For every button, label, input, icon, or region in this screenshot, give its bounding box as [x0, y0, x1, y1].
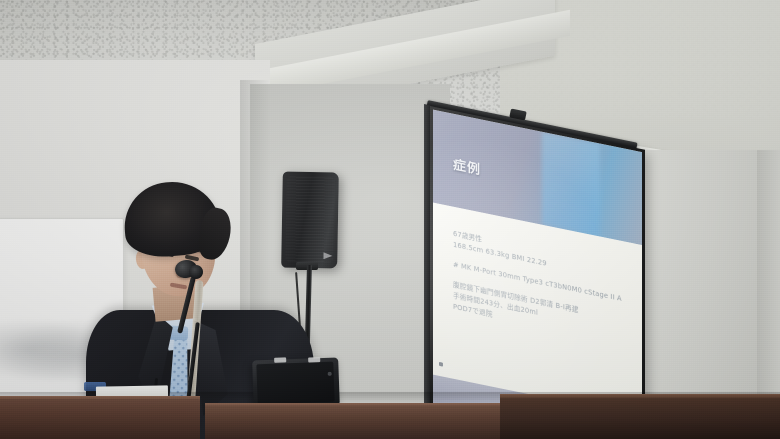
microphone-capsule: [189, 265, 203, 279]
podium-far-panel: [500, 398, 780, 439]
tablet-device: [252, 358, 340, 409]
slide-header-accent: [542, 132, 601, 237]
podium-right-panel: [205, 406, 505, 439]
tablet-case-clip: [274, 357, 286, 362]
podium-left-panel: [0, 399, 200, 439]
tablet-screen[interactable]: [256, 362, 334, 405]
slide-title: 症例: [453, 154, 481, 179]
tablet-case-clip: [308, 357, 320, 362]
projection-screen: 症例 67歳男性 168.5cm 63.3kg BMI 22.29 # MK M…: [430, 106, 645, 439]
projection-screen-assembly: 症例 67歳男性 168.5cm 63.3kg BMI 22.29 # MK M…: [424, 96, 664, 426]
presentation-photo: 症例 67歳男性 168.5cm 63.3kg BMI 22.29 # MK M…: [0, 0, 780, 439]
slide-corner-marker: [439, 362, 443, 367]
slide-surface: 症例 67歳男性 168.5cm 63.3kg BMI 22.29 # MK M…: [433, 110, 642, 439]
